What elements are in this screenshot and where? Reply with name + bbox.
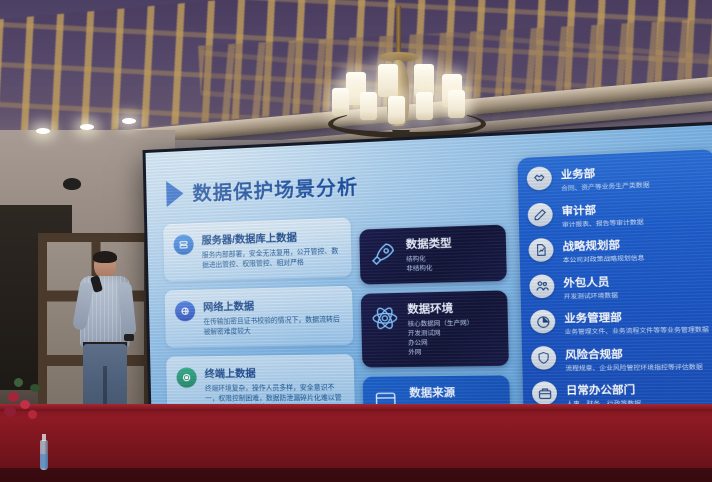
page-title: 数据保护场景分析 <box>192 172 358 207</box>
presenter-hair <box>93 251 117 263</box>
list-item: 风险合规部 流程规章、企业风险管控环境指控等评估数据 <box>531 343 710 374</box>
list-item-title: 日常办公部门 <box>566 381 641 398</box>
card-title: 数据来源 <box>409 384 500 400</box>
stage-front-shadow <box>0 468 712 482</box>
list-item-title: 战略规划部 <box>562 235 644 254</box>
list-item-title: 终端上数据 <box>204 364 343 381</box>
list-item-body: 业务管理文件、业务流程文件等等业务管理数据 <box>565 326 710 338</box>
list-item: 外包人员 开发测试环境数据 <box>529 270 708 303</box>
flower-petal <box>4 406 16 417</box>
list-item-body: 流程规章、企业风险管控环境指控等评估数据 <box>565 363 703 374</box>
list-item-title: 审计部 <box>561 199 643 218</box>
list-item-body: 在传输加密且证书校验的情况下，数据流转后被解密难度较大 <box>203 315 342 337</box>
ceiling-downlight <box>80 124 94 130</box>
flower-petal <box>20 400 30 409</box>
endpoint-icon <box>176 368 197 388</box>
presentation-clicker <box>124 334 134 341</box>
stage-platform <box>0 404 712 482</box>
list-item-title: 网络上数据 <box>203 295 342 313</box>
flower-leaf <box>30 384 40 392</box>
server-icon <box>173 234 194 255</box>
chandelier-shade <box>332 88 349 116</box>
chandelier-shade <box>378 64 398 97</box>
list-item: 业务部 合同、资产等业务生产类数据 <box>527 159 706 195</box>
network-icon <box>175 301 196 322</box>
people-icon <box>529 274 554 298</box>
list-item-body: 服务内部部署，安全无法复用，公开管控、数据进出管控、权限管控、相对严格 <box>202 247 341 271</box>
left-column: 服务器/数据库上数据 服务内部部署，安全无法复用，公开管控、数据进出管控、权限管… <box>163 217 355 432</box>
rocket-icon <box>369 240 398 268</box>
card-line: 非结构化 <box>406 264 452 275</box>
list-item-body: 本公司对政策战略规划信息 <box>563 255 645 267</box>
list-item: 服务器/数据库上数据 服务内部部署，安全无法复用，公开管控、数据进出管控、权限管… <box>163 217 352 281</box>
list-item: 审计部 审计报表、报告等审计数据 <box>527 196 706 231</box>
flower-leaf <box>14 378 23 387</box>
right-column-panel: 业务部 合同、资产等业务生产类数据 审计部 审计报表、报告等审计数据 <box>517 149 712 428</box>
security-camera-dome-icon <box>63 178 81 190</box>
atom-icon <box>371 304 400 332</box>
flower-arrangement <box>2 366 54 422</box>
list-item-title: 业务部 <box>561 162 650 182</box>
briefcase-icon <box>532 382 557 406</box>
chevron-right-icon <box>166 180 184 207</box>
pie-chart-icon <box>530 310 555 334</box>
list-item: 网络上数据 在传输加密且证书校验的情况下，数据流转后被解密难度较大 <box>165 286 354 348</box>
card-data-type: 数据类型 结构化 非结构化 <box>359 225 507 285</box>
card-title: 数据类型 <box>406 235 452 252</box>
card-data-environment: 数据环境 核心数据网（生产网） 开发测试网 办公网 外网 <box>361 290 509 367</box>
list-item: 战略规划部 本公司对政策战略规划信息 <box>528 233 707 267</box>
handshake-icon <box>527 166 552 191</box>
ceiling-downlight <box>36 128 50 134</box>
list-item-title: 外包人员 <box>563 272 618 290</box>
list-item: 业务管理部 业务管理文件、业务流程文件等等业务管理数据 <box>530 307 709 339</box>
list-item-title: 风险合规部 <box>565 344 703 362</box>
flower-petal <box>8 392 19 402</box>
list-item-title: 服务器/数据库上数据 <box>201 227 340 247</box>
flower-petal <box>28 410 37 419</box>
ceiling-downlight <box>122 118 136 124</box>
slide-title-row: 数据保护场景分析 <box>166 172 358 208</box>
card-line: 核心数据网（生产网） <box>408 320 474 331</box>
shield-icon <box>531 346 556 370</box>
pencil-icon <box>527 202 552 226</box>
water-bottle <box>40 440 48 470</box>
stage-edge <box>0 404 712 411</box>
card-line: 外网 <box>408 348 474 358</box>
card-title: 数据环境 <box>407 300 473 317</box>
chart-doc-icon <box>528 238 553 262</box>
list-item-body: 开发测试环境数据 <box>564 292 618 302</box>
list-item-title: 业务管理部 <box>564 307 709 326</box>
conference-photo: 数据保护场景分析 服务器/数据库上数据 服务内部部署，安全无法复用，公开管控、数… <box>0 0 712 482</box>
list-item-body: 合同、资产等业务生产类数据 <box>561 181 650 194</box>
chandelier-rod <box>396 6 401 58</box>
list-item-body: 审计报表、报告等审计数据 <box>562 218 644 230</box>
